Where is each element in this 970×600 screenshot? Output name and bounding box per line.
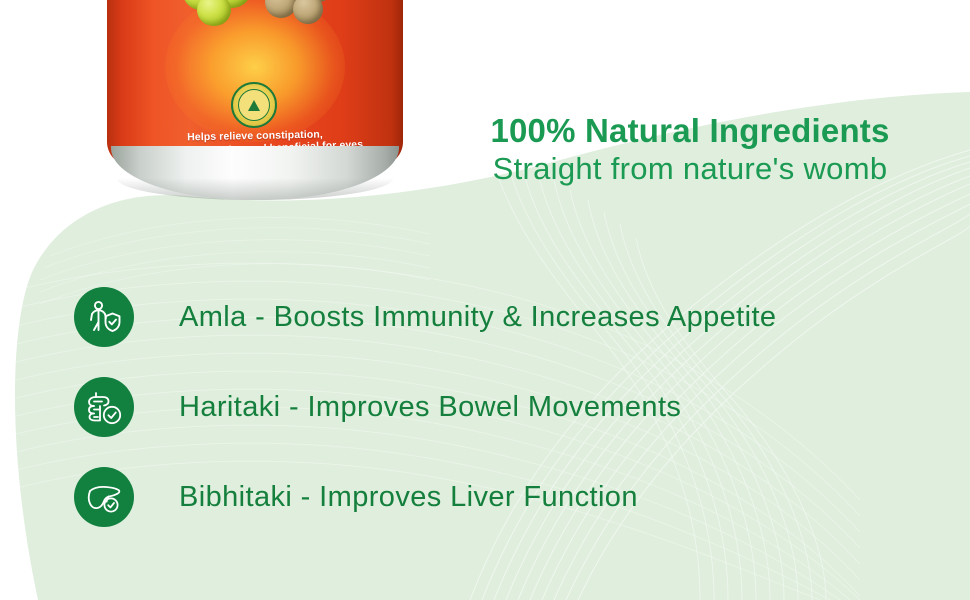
intestines-check-icon xyxy=(74,377,134,437)
leaf-icon xyxy=(248,100,260,111)
benefits-list: Amla - Boosts Immunity & Increases Appet… xyxy=(74,272,954,542)
benefit-row-bibhitaki: Bibhitaki - Improves Liver Function xyxy=(74,452,954,542)
headline-primary: 100% Natural Ingredients xyxy=(430,112,950,150)
benefit-row-amla: Amla - Boosts Immunity & Increases Appet… xyxy=(74,272,954,362)
seal-inner-ring xyxy=(238,89,270,121)
bottle-base-shadow xyxy=(117,178,393,200)
headline-secondary: Straight from nature's womb xyxy=(430,150,950,188)
headline-block: 100% Natural Ingredients Straight from n… xyxy=(430,112,950,188)
product-feature-banner: Helps relieve constipation, improves dig… xyxy=(0,0,970,600)
liver-check-icon xyxy=(74,467,134,527)
ayurvedic-certification-seal xyxy=(231,82,277,128)
benefit-text-haritaki: Haritaki - Improves Bowel Movements xyxy=(179,390,681,424)
product-bottle: Helps relieve constipation, improves dig… xyxy=(107,0,403,200)
benefit-text-amla: Amla - Boosts Immunity & Increases Appet… xyxy=(179,300,776,334)
person-shield-check-icon xyxy=(74,287,134,347)
benefit-text-bibhitaki: Bibhitaki - Improves Liver Function xyxy=(179,480,638,514)
benefit-row-haritaki: Haritaki - Improves Bowel Movements xyxy=(74,362,954,452)
triphala-fruits-image xyxy=(161,0,357,36)
